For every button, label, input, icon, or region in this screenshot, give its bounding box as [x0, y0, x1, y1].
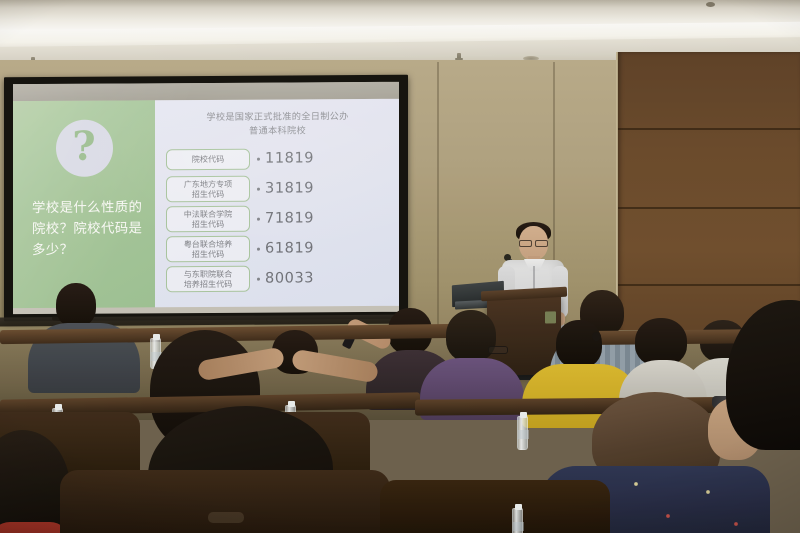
code-value: 31819	[265, 180, 314, 196]
attendee-head	[56, 283, 96, 327]
glasses-icon	[519, 240, 548, 245]
bullet-dot	[257, 277, 260, 280]
screen-surface: ? 学校是什么性质的院校？院校代码是多少？ 学校是国家正式批准的全日制公办 普通…	[13, 82, 399, 314]
code-row: 院校代码 11819	[166, 145, 389, 171]
podium-emblem	[545, 311, 556, 323]
code-label: 广东地方专项 招生代码	[166, 176, 250, 203]
auditorium-chair	[60, 470, 390, 533]
slide-question-text: 学校是什么性质的院校？院校代码是多少？	[25, 198, 143, 261]
wall-seam	[437, 62, 439, 352]
code-value: 61819	[265, 240, 314, 256]
bullet-dot	[257, 217, 260, 220]
attendee-head	[556, 320, 602, 368]
bottle-label	[518, 430, 529, 439]
glasses-icon	[488, 346, 508, 354]
slide-heading-line1: 学校是国家正式批准的全日制公办	[166, 110, 389, 126]
slide-left-panel: ? 学校是什么性质的院校？院校代码是多少？	[13, 100, 155, 308]
bullet-dot	[257, 157, 260, 160]
bullet-dot	[257, 187, 260, 190]
wood-seam	[618, 128, 800, 130]
chair-emblem	[208, 512, 244, 523]
sprinkler-icon	[457, 53, 461, 60]
code-row: 中法联合学院 招生代码 71819	[166, 205, 389, 231]
code-value: 71819	[265, 210, 314, 226]
water-bottle	[517, 416, 528, 450]
code-row: 与东职院联合 培养招生代码 80033	[166, 265, 389, 291]
presentation-slide: ? 学校是什么性质的院校？院校代码是多少？ 学校是国家正式批准的全日制公办 普通…	[13, 99, 399, 308]
wood-seam	[618, 207, 800, 209]
code-value: 11819	[265, 150, 314, 166]
code-label: 粤台联合培养 招生代码	[166, 236, 250, 263]
slide-right-panel: 学校是国家正式批准的全日制公办 普通本科院校 院校代码 11819	[155, 99, 399, 307]
slide-heading-line2: 普通本科院校	[166, 124, 389, 140]
code-label: 院校代码	[166, 148, 250, 170]
auditorium-chair	[380, 480, 610, 533]
code-label: 中法联合学院 招生代码	[166, 206, 250, 233]
code-label: 与东职院联合 培养招生代码	[166, 266, 250, 293]
bottle-label	[513, 522, 524, 531]
projection-screen: ? 学校是什么性质的院校？院校代码是多少？ 学校是国家正式批准的全日制公办 普通…	[4, 75, 408, 321]
code-value: 80033	[265, 270, 314, 286]
code-rows: 院校代码 11819 广东地方专项 招生代码	[166, 145, 389, 291]
code-row: 粤台联合培养 招生代码 61819	[166, 235, 389, 261]
slide-heading: 学校是国家正式批准的全日制公办 普通本科院校	[166, 110, 389, 140]
hair-tie-icon	[592, 332, 601, 341]
water-bottle	[512, 508, 523, 533]
attendee-head	[446, 310, 496, 362]
bullet-dot	[257, 247, 260, 250]
downlight-icon	[706, 2, 715, 7]
wood-seam	[618, 284, 800, 286]
question-mark-icon: ?	[56, 120, 113, 177]
attendee-head	[635, 318, 687, 366]
lecture-hall-photo: ? 学校是什么性质的院校？院校代码是多少？ 学校是国家正式批准的全日制公办 普通…	[0, 0, 800, 533]
code-row: 广东地方专项 招生代码 31819	[166, 175, 389, 201]
